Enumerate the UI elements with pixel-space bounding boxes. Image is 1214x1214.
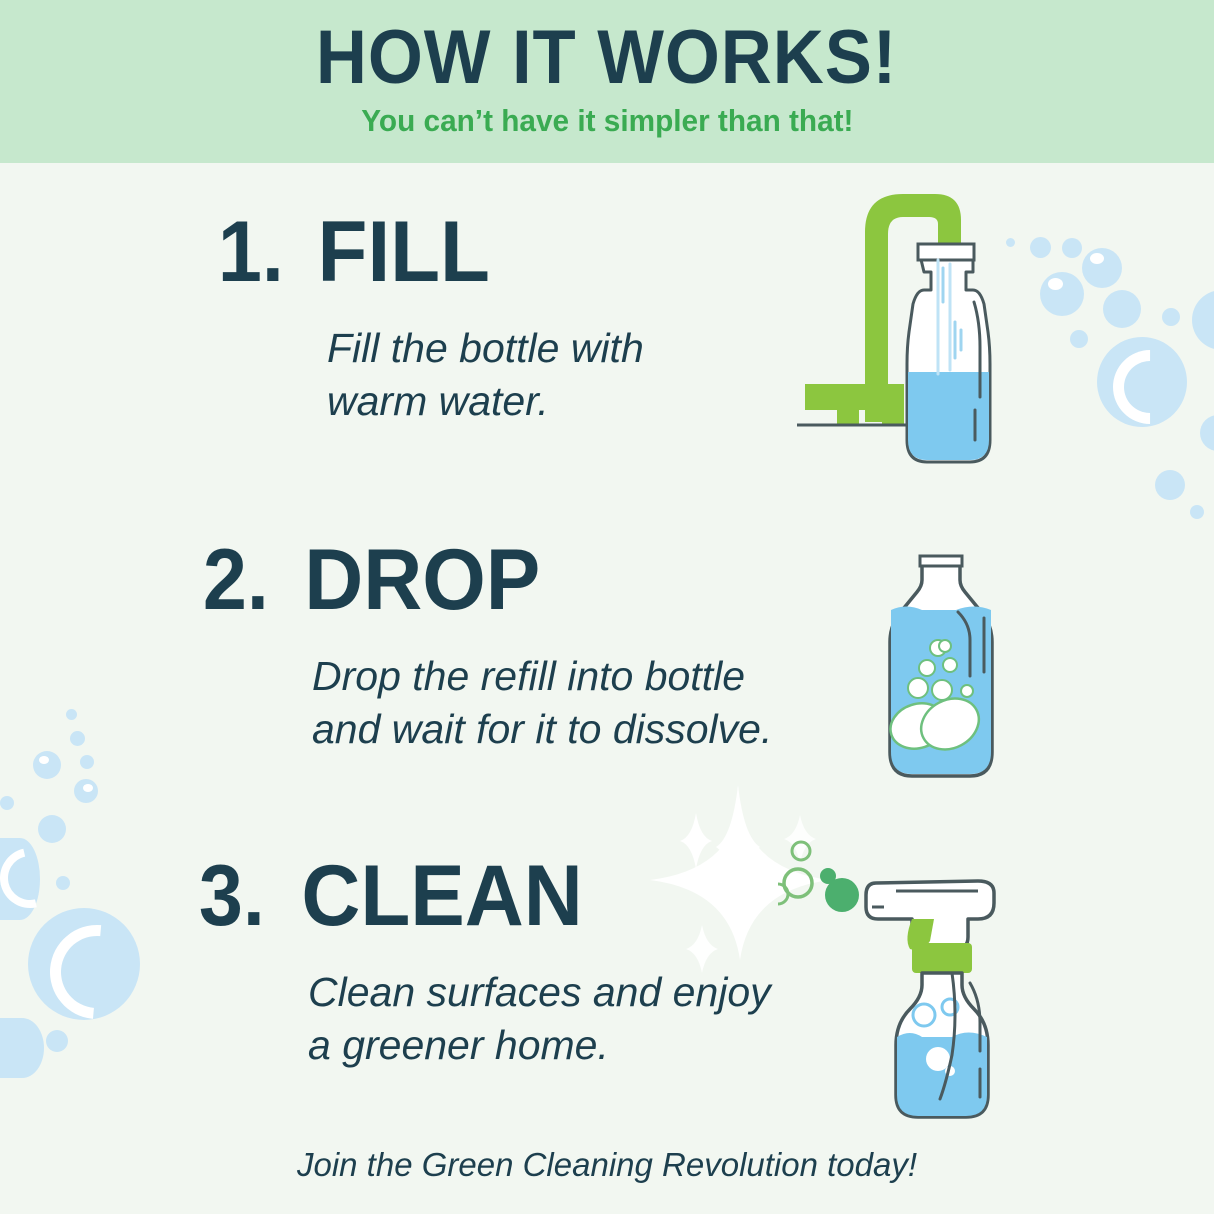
step-2-heading: 2. DROP <box>200 536 772 624</box>
header-banner: HOW IT WORKS! You can’t have it simpler … <box>0 0 1214 163</box>
faucet-bottle-svg <box>775 172 1025 472</box>
step-1-title: FILL <box>317 208 489 296</box>
spray-bottle-svg <box>860 855 1030 1125</box>
step-2-title: DROP <box>304 536 540 624</box>
page-subtitle: You can’t have it simpler than that! <box>361 104 853 138</box>
footer-cta: Join the Green Cleaning Revolution today… <box>0 1146 1214 1184</box>
tablet-bottle-svg <box>866 548 1016 788</box>
step-3-heading: 3. CLEAN <box>196 852 771 940</box>
illustration-spray-bottle <box>860 855 1030 1125</box>
step-3-number: 3. <box>199 852 265 940</box>
illustration-bottle-with-tablets <box>866 548 1016 788</box>
step-3-description: Clean surfaces and enjoy a greener home. <box>308 966 771 1072</box>
step-3-title: CLEAN <box>301 852 582 940</box>
step-2: 2. DROP Drop the refill into bottle and … <box>200 536 772 756</box>
step-1-number: 1. <box>218 208 284 296</box>
step-1-heading: 1. FILL <box>215 208 644 296</box>
step-3: 3. CLEAN Clean surfaces and enjoy a gree… <box>196 852 771 1072</box>
step-1-description: Fill the bottle with warm water. <box>327 322 644 428</box>
page-title: HOW IT WORKS! <box>316 18 897 98</box>
step-2-description: Drop the refill into bottle and wait for… <box>312 650 772 756</box>
step-2-number: 2. <box>203 536 269 624</box>
illustration-faucet-filling-bottle <box>775 172 1025 472</box>
step-1: 1. FILL Fill the bottle with warm water. <box>215 208 644 428</box>
infographic-canvas: 1. FILL Fill the bottle with warm water. <box>0 0 1214 1214</box>
